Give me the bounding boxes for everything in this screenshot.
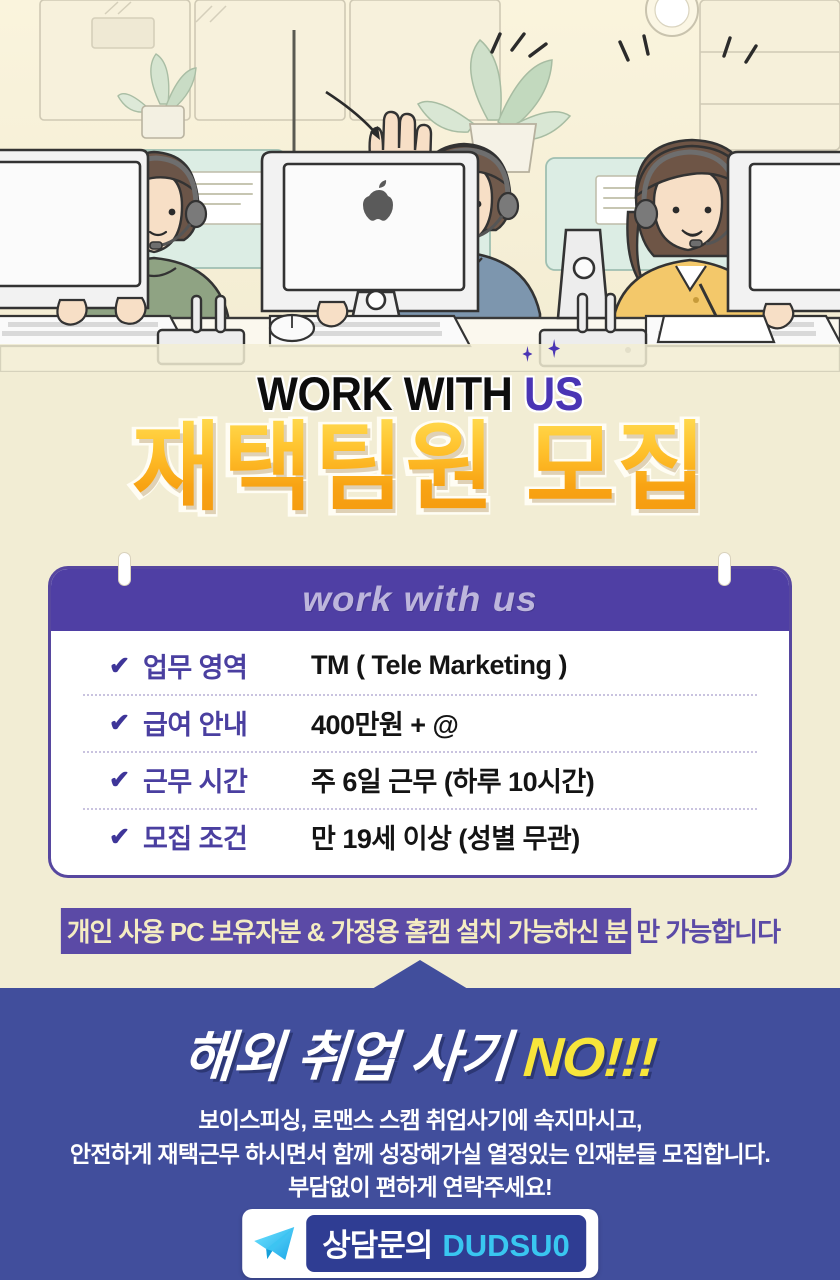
notice-heading-main: 해외 취업 사기	[181, 1026, 526, 1088]
card-pin-left	[118, 552, 131, 586]
notice-line: 부담없이 편하게 연락주세요!	[0, 1171, 840, 1205]
row-value: 주 6일 근무 (하루 10시간)	[311, 760, 594, 799]
page-title: 재택팀원 모집	[132, 419, 708, 518]
requirement-banner: 개인 사용 PC 보유자분 & 가정용 홈캠 설치 가능하신 분만 가능합니다	[0, 908, 840, 954]
row-value: TM ( Tele Marketing )	[311, 650, 567, 681]
check-icon: ✔	[109, 651, 143, 681]
contact-button[interactable]: 상담문의 DUDSU0	[242, 1209, 598, 1278]
row-label: 업무 영역	[143, 646, 311, 685]
card-pin-right	[718, 552, 731, 586]
requirement-tail: 만 가능합니다	[634, 908, 782, 954]
requirement-highlight: 개인 사용 PC 보유자분 & 가정용 홈캠 설치 가능하신 분	[61, 908, 632, 954]
table-row: ✔ 모집 조건 만 19세 이상 (성별 무관)	[51, 808, 789, 865]
notice-line: 보이스피싱, 로맨스 스캠 취업사기에 속지마시고,	[0, 1104, 840, 1138]
check-icon: ✔	[109, 708, 143, 738]
hero-illustration	[0, 0, 840, 372]
table-row: ✔ 근무 시간 주 6일 근무 (하루 10시간)	[51, 751, 789, 808]
info-card-header: work with us	[51, 569, 789, 631]
headline-shell: 재택팀원 모집 재택팀원 모집	[132, 421, 708, 518]
info-card-header-label: work with us	[302, 580, 537, 620]
row-label: 급여 안내	[143, 703, 311, 742]
notice-heading: 해외 취업 사기 NO!!!	[0, 1012, 840, 1092]
poster-root: WORK WITH US 재택팀원 모집 재택팀원 모집 work with u…	[0, 0, 840, 1280]
info-card: work with us ✔ 업무 영역 TM ( Tele Marketing…	[48, 566, 792, 878]
contact-label: 상담문의	[322, 1220, 432, 1265]
check-icon: ✔	[109, 765, 143, 795]
info-card-body: ✔ 업무 영역 TM ( Tele Marketing ) ✔ 급여 안내 40…	[51, 631, 789, 865]
table-row: ✔ 급여 안내 400만원 + @	[51, 694, 789, 751]
telegram-icon	[252, 1224, 296, 1264]
notice-body: 보이스피싱, 로맨스 스캠 취업사기에 속지마시고, 안전하게 재택근무 하시면…	[0, 1104, 840, 1205]
notice-heading-accent: NO!!!	[521, 1026, 658, 1088]
title-block: WORK WITH US 재택팀원 모집 재택팀원 모집	[0, 366, 840, 518]
contact-pill[interactable]: 상담문의 DUDSU0	[306, 1215, 586, 1272]
row-label: 모집 조건	[143, 817, 311, 856]
check-icon: ✔	[109, 822, 143, 852]
notice-line: 안전하게 재택근무 하시면서 함께 성장해가실 열정있는 인재분들 모집합니다.	[0, 1138, 840, 1172]
row-label: 근무 시간	[143, 760, 311, 799]
contact-handle: DUDSU0	[442, 1228, 569, 1264]
sparkle-icon	[519, 339, 578, 369]
row-value: 400만원 + @	[311, 703, 458, 742]
row-value: 만 19세 이상 (성별 무관)	[311, 817, 580, 856]
notice-arrow-notch	[372, 960, 468, 989]
table-row: ✔ 업무 영역 TM ( Tele Marketing )	[51, 637, 789, 694]
